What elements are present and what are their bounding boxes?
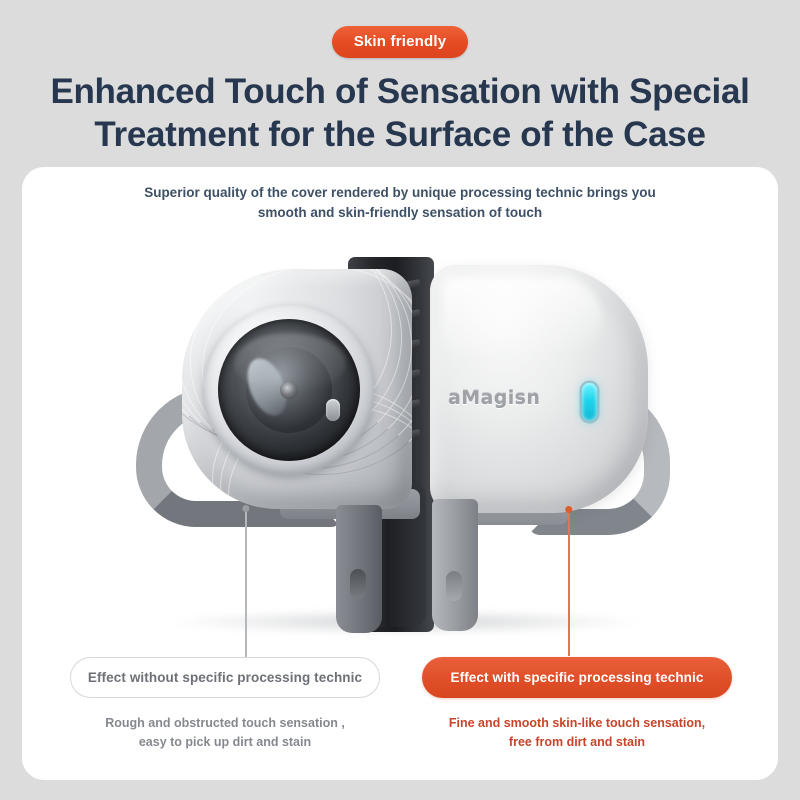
effect-with-treatment-pill[interactable]: Effect with specific processing technic [422, 657, 732, 698]
right-caption-line-2: free from dirt and stain [412, 733, 742, 752]
page-title: Enhanced Touch of Sensation with Special… [0, 70, 800, 156]
left-caption-line-2: easy to pick up dirt and stain [60, 733, 390, 752]
skin-friendly-badge: Skin friendly [332, 26, 469, 58]
case-half-smooth: aMagisn [130, 237, 670, 657]
right-caption: Fine and smooth skin-like touch sensatio… [412, 714, 742, 753]
headline-line-1: Enhanced Touch of Sensation with Special [0, 70, 800, 113]
badge-container: Skin friendly [0, 26, 800, 58]
subtitle-line-1: Superior quality of the cover rendered b… [22, 183, 778, 203]
left-leader-dot [242, 505, 249, 512]
smooth-surface-sheen [442, 277, 602, 355]
left-leader-line [245, 509, 247, 657]
effect-without-treatment-pill[interactable]: Effect without specific processing techn… [70, 657, 380, 698]
left-caption: Rough and obstructed touch sensation , e… [60, 714, 390, 753]
right-leader-dot [565, 506, 572, 513]
subtitle-line-2: smooth and skin-friendly sensation of to… [22, 203, 778, 223]
right-caption-line-1: Fine and smooth skin-like touch sensatio… [412, 714, 742, 733]
product-image: aMagisn [22, 227, 778, 657]
headline-line-2: Treatment for the Surface of the Case [0, 113, 800, 156]
brand-logo-text: aMagisn [448, 387, 588, 409]
card-subtitle: Superior quality of the cover rendered b… [22, 183, 778, 224]
left-caption-line-1: Rough and obstructed touch sensation , [60, 714, 390, 733]
right-mount-foot [432, 499, 478, 631]
product-stage: aMagisn [130, 237, 670, 657]
right-mount-hole [446, 571, 462, 601]
status-led-indicator [582, 383, 597, 421]
right-leader-line [568, 510, 570, 656]
